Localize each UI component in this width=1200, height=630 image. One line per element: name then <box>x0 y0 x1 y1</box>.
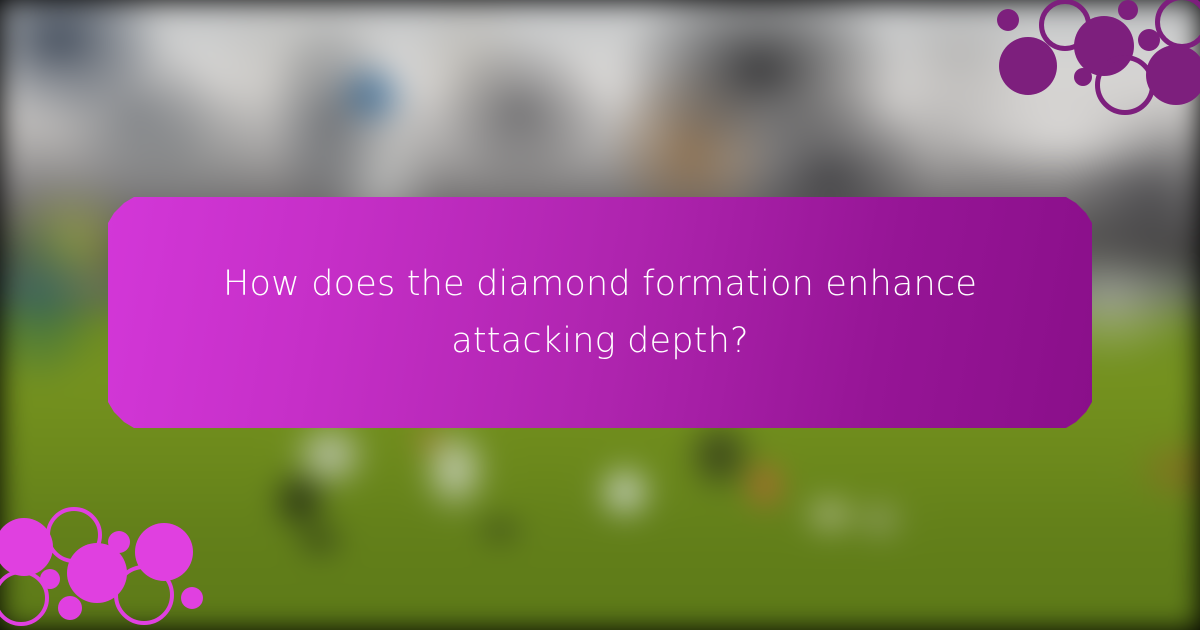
decorative-filled-circle <box>1118 0 1138 20</box>
decorative-ring-circle <box>1095 55 1155 115</box>
quote-card: How does the diamond formation enhance a… <box>0 0 1200 630</box>
decorative-filled-circle <box>997 9 1019 31</box>
decorative-filled-circle <box>0 518 53 576</box>
decorative-filled-circle <box>1146 45 1200 105</box>
decorative-ring-circle <box>0 570 49 626</box>
decorative-filled-circle <box>181 587 203 609</box>
decorative-filled-circle <box>58 596 82 620</box>
decorative-filled-circle <box>1074 68 1092 86</box>
quote-question-text: How does the diamond formation enhance a… <box>150 256 1050 369</box>
decorative-filled-circle <box>1138 29 1160 51</box>
circle-cluster-bottom-left <box>0 490 240 630</box>
decorative-ring-circle <box>1155 0 1200 49</box>
decorative-filled-circle <box>999 37 1057 95</box>
circle-cluster-top-right <box>980 0 1200 150</box>
decorative-ring-circle <box>114 565 174 625</box>
quote-banner: How does the diamond formation enhance a… <box>108 197 1092 428</box>
